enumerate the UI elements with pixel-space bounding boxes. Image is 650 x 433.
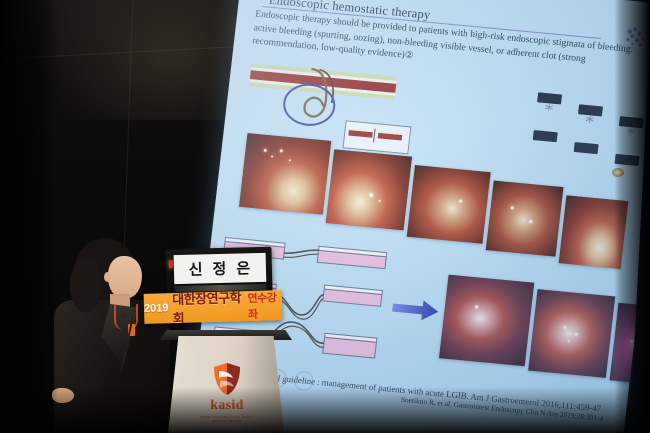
speaker-hair-side [70,260,100,312]
digital-nameplate: 신 정 은 [165,247,272,296]
nameplate-screen: 신 정 은 [174,253,267,284]
right-shadow-overlay [614,0,650,433]
nameplate-char-3: 은 [236,257,251,278]
speaker-ear [104,272,111,282]
left-shadow-overlay [0,0,58,433]
microphone-head [120,312,127,319]
banner-organization: 대한장연구학회 [172,290,244,324]
nameplate-char-1: 신 [188,258,203,279]
nameplate-char-2: 정 [212,258,227,279]
nameplate-led-indicator [169,260,173,268]
foreground-shadow [0,387,650,433]
speaker-face [108,256,142,298]
banner-event-name: 연수강좌 [247,290,282,322]
banner-year: 2019 [144,302,169,315]
conference-photo-scene: Endoscopic hemostatic therapy Endoscopic… [0,0,650,433]
event-banner: 2019 대한장연구학회 연수강좌 [144,290,283,324]
